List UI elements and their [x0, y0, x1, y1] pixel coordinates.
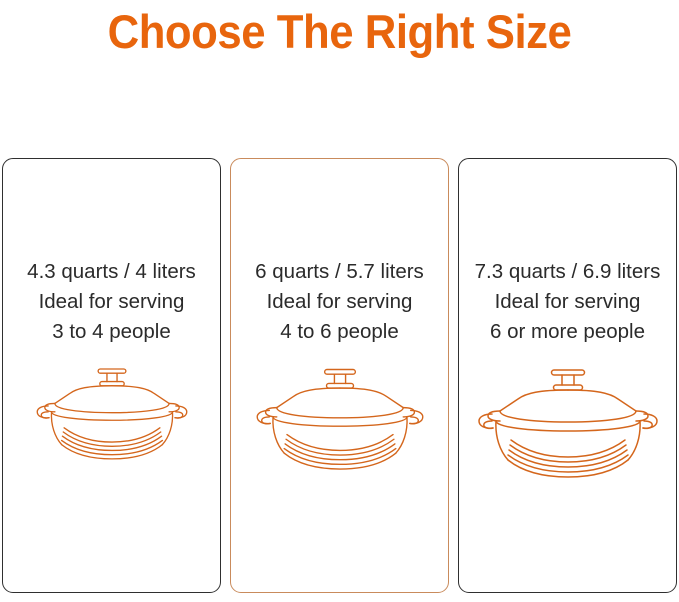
size-card-medium[interactable]: 6 quarts / 5.7 liters Ideal for serving … [230, 158, 449, 593]
capacity-label: 4.3 quarts / 4 liters [3, 257, 220, 287]
pot-illustration-wrap [231, 361, 448, 471]
capacity-label: 6 quarts / 5.7 liters [231, 257, 448, 287]
serving-count-label: 6 or more people [459, 317, 676, 347]
size-card-list: 4.3 quarts / 4 liters Ideal for serving … [2, 158, 677, 593]
dutch-oven-icon [28, 361, 196, 461]
pot-illustration-wrap [3, 361, 220, 461]
size-card-medium-text: 6 quarts / 5.7 liters Ideal for serving … [231, 257, 448, 347]
serving-count-label: 4 to 6 people [231, 317, 448, 347]
size-card-large-text: 7.3 quarts / 6.9 liters Ideal for servin… [459, 257, 676, 347]
dutch-oven-icon [247, 361, 433, 471]
serving-count-label: 3 to 4 people [3, 317, 220, 347]
page-title: Choose The Right Size [24, 0, 655, 62]
serving-label: Ideal for serving [459, 287, 676, 317]
dutch-oven-icon [468, 361, 668, 479]
capacity-label: 7.3 quarts / 6.9 liters [459, 257, 676, 287]
size-card-small-text: 4.3 quarts / 4 liters Ideal for serving … [3, 257, 220, 347]
pot-illustration-wrap [459, 361, 676, 479]
size-card-small[interactable]: 4.3 quarts / 4 liters Ideal for serving … [2, 158, 221, 593]
serving-label: Ideal for serving [231, 287, 448, 317]
serving-label: Ideal for serving [3, 287, 220, 317]
size-card-large[interactable]: 7.3 quarts / 6.9 liters Ideal for servin… [458, 158, 677, 593]
